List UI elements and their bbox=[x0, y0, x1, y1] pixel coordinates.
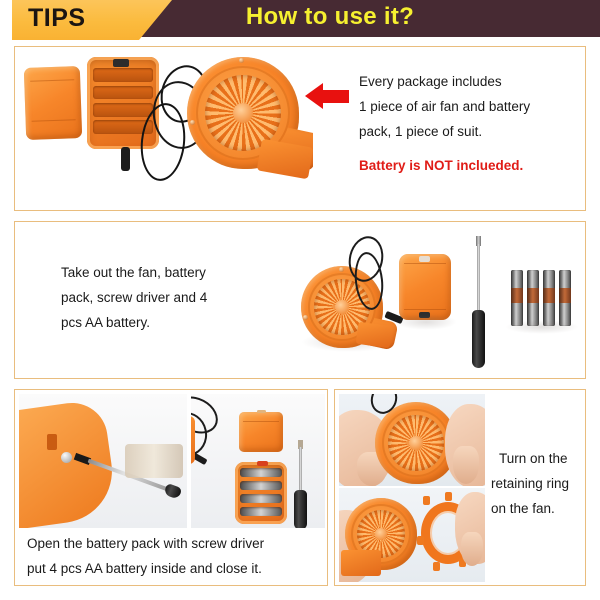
battery-warning-text: Battery is NOT inclueded. bbox=[359, 153, 530, 178]
photo-unpack-items bbox=[293, 228, 581, 374]
page-title: How to use it? bbox=[0, 3, 600, 31]
text-line-2: pack, screw driver and 4 bbox=[61, 285, 207, 310]
panel-unpack-step: Take out the fan, battery pack, screw dr… bbox=[14, 221, 586, 379]
cable-plug bbox=[121, 147, 130, 171]
panel-package-contents: Every package includes 1 piece of air fa… bbox=[14, 46, 586, 211]
finger bbox=[453, 446, 479, 484]
text-line-3: pack, 1 piece of suit. bbox=[359, 119, 530, 144]
fan-edge bbox=[191, 416, 195, 464]
retaining-ring-text: Turn on the retaining ring on the fan. bbox=[491, 446, 569, 521]
screwdriver bbox=[291, 440, 313, 528]
finger bbox=[461, 532, 483, 566]
aa-batteries bbox=[511, 270, 573, 326]
left-arrow-icon bbox=[305, 83, 349, 110]
aa-batteries-blurred bbox=[125, 444, 183, 478]
text-line-1: Open the battery pack with screw driver bbox=[27, 531, 264, 556]
photo-unscrew-battery-pack bbox=[19, 394, 187, 528]
unpack-step-text: Take out the fan, battery pack, screw dr… bbox=[61, 260, 207, 335]
package-contents-text: Every package includes 1 piece of air fa… bbox=[359, 69, 530, 178]
battery-pack-lid bbox=[239, 412, 283, 452]
text-line-1: Take out the fan, battery bbox=[61, 260, 207, 285]
fan-air-outlet bbox=[356, 322, 393, 349]
install-batteries-text: Open the battery pack with screw driver … bbox=[27, 531, 264, 581]
screwdriver bbox=[469, 236, 489, 366]
tips-infographic-page: TIPS How to use it? bbox=[0, 0, 600, 600]
text-line-1: Every package includes bbox=[359, 69, 530, 94]
photo-battery-pack-loaded bbox=[191, 394, 325, 528]
text-line-3: on the fan. bbox=[491, 496, 569, 521]
battery-pack-slot-mark bbox=[47, 434, 57, 450]
photo-package-contents bbox=[21, 51, 313, 206]
text-line-2: 1 piece of air fan and battery bbox=[359, 94, 530, 119]
header-banner: TIPS How to use it? bbox=[0, 0, 600, 40]
panel-install-batteries: Open the battery pack with screw driver … bbox=[14, 389, 328, 586]
text-line-2: retaining ring bbox=[491, 471, 569, 496]
fan-air-outlet bbox=[341, 550, 381, 576]
panel-retaining-ring: Turn on the retaining ring on the fan. bbox=[334, 389, 586, 586]
battery-pack-with-batteries bbox=[235, 462, 287, 524]
text-line-3: pcs AA battery. bbox=[61, 310, 207, 335]
battery-pack-cover bbox=[24, 66, 82, 140]
text-line-2: put 4 pcs AA battery inside and close it… bbox=[27, 556, 264, 581]
battery-pack bbox=[399, 254, 451, 320]
text-line-1: Turn on the bbox=[491, 446, 569, 471]
screw-head bbox=[61, 452, 72, 463]
photo-hands-holding-fan bbox=[339, 394, 485, 486]
photo-hands-with-retaining-ring bbox=[339, 488, 485, 582]
